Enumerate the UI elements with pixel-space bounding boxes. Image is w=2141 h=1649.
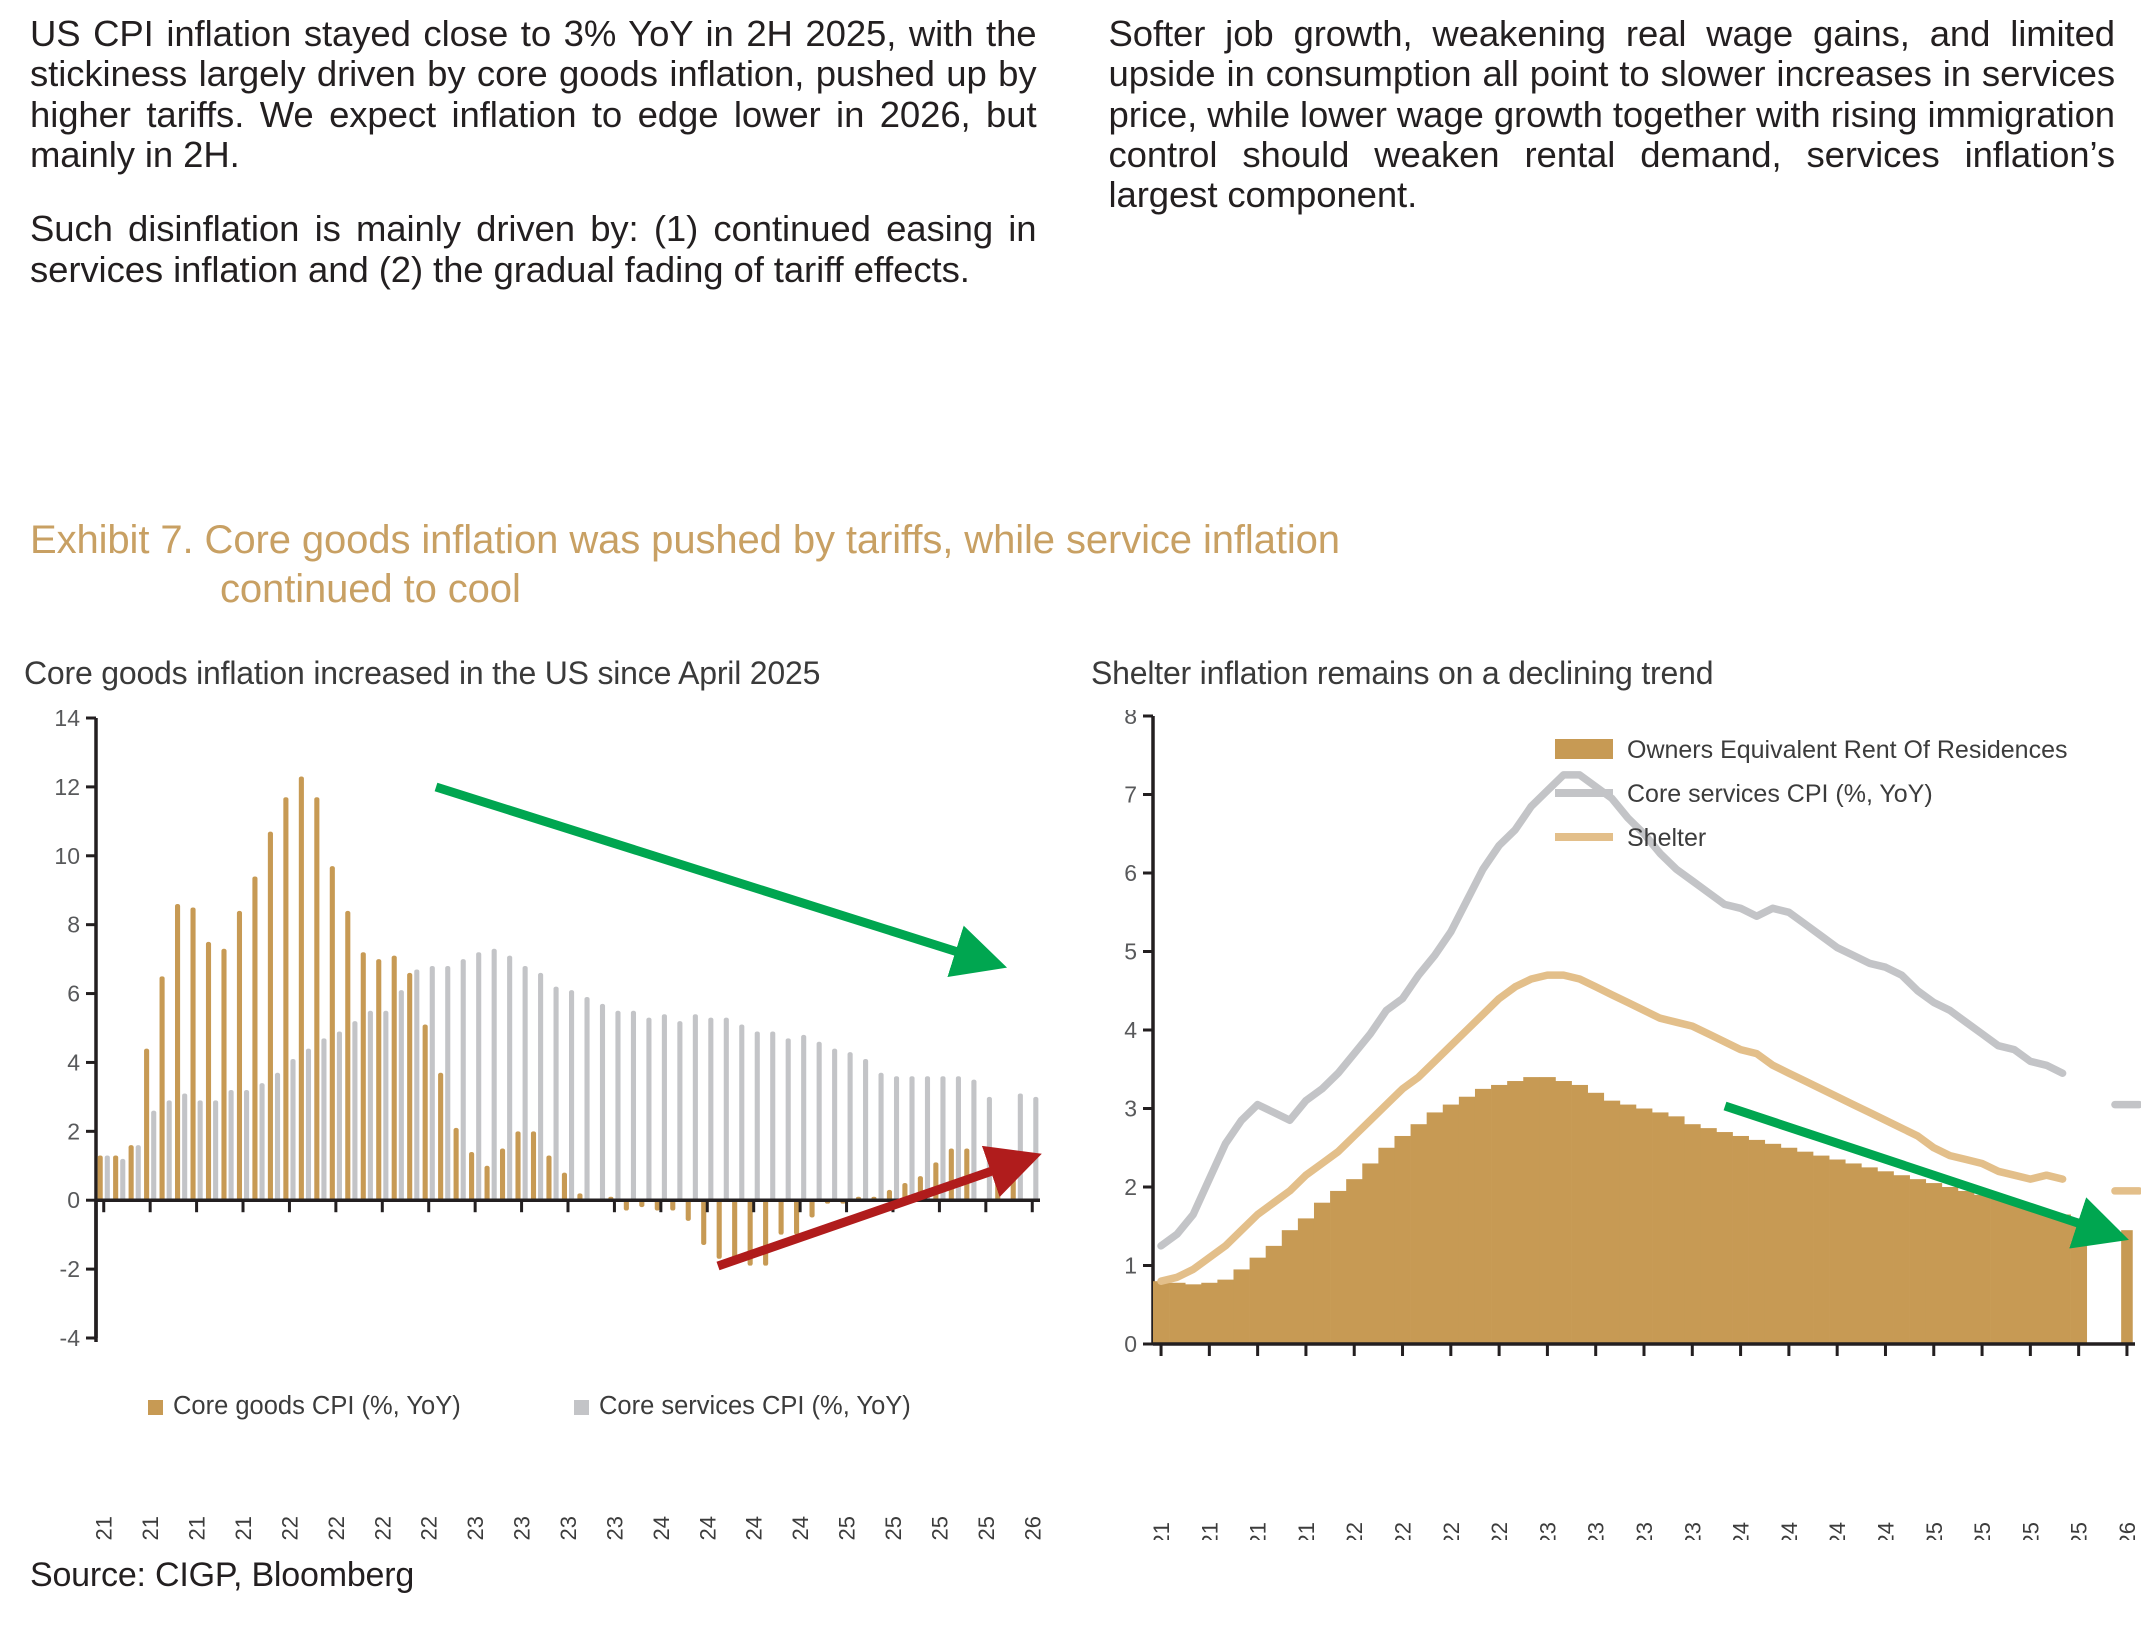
oer-area-bar <box>1539 1077 1555 1344</box>
legend-swatch-core-goods <box>148 1400 163 1415</box>
bar-core-services <box>290 1059 295 1200</box>
bar-core-services <box>136 1145 141 1200</box>
oer-area-bar <box>1700 1128 1716 1344</box>
bar-core-services <box>600 1004 605 1200</box>
bar-core-services <box>213 1100 218 1200</box>
x-tick-label: 7/25 <box>2018 1522 2043 1540</box>
y-tick-label: 1 <box>1124 1253 1137 1279</box>
bar-core-goods <box>779 1200 784 1234</box>
x-tick-label: 7/23 <box>556 1516 581 1540</box>
bar-core-services <box>739 1025 744 1201</box>
bar-core-services <box>724 1018 729 1201</box>
x-tick-label: 4/22 <box>324 1516 349 1540</box>
oer-area-bar <box>1250 1258 1266 1344</box>
oer-area-bar <box>1475 1089 1491 1344</box>
x-tick-label: 1/26 <box>1020 1516 1045 1540</box>
x-tick-label: 4/23 <box>1584 1522 1609 1540</box>
right-chart-panel: Shelter inflation remains on a declining… <box>1085 655 2141 1535</box>
bar-core-services <box>523 966 528 1200</box>
bar-core-goods <box>809 1200 814 1217</box>
x-tick-label: 4/22 <box>1391 1522 1416 1540</box>
oer-area-bar <box>1233 1269 1249 1344</box>
x-tick-label: 10/25 <box>2067 1522 2092 1540</box>
oer-area-bar <box>2071 1218 2087 1344</box>
oer-area-bar <box>2121 1230 2133 1344</box>
bar-core-services <box>352 1021 357 1200</box>
intro-paragraph-2: Such disinflation is mainly driven by: (… <box>30 209 1037 290</box>
y-tick-label: 2 <box>1124 1174 1137 1200</box>
bar-core-services <box>693 1014 698 1200</box>
y-tick-label: 8 <box>1124 710 1137 729</box>
bar-core-goods <box>500 1149 505 1201</box>
y-tick-label: -2 <box>60 1256 80 1282</box>
bar-core-services <box>368 1011 373 1200</box>
oer-area-bar <box>1153 1281 1169 1344</box>
y-tick-label: 12 <box>54 774 80 800</box>
oer-area-bar <box>1185 1284 1201 1344</box>
bar-core-services <box>414 969 419 1200</box>
oer-area-bar <box>2006 1203 2022 1344</box>
charts-row: Core goods inflation increased in the US… <box>0 655 2141 1535</box>
oer-area-bar <box>1926 1183 1942 1344</box>
oer-area-bar <box>1330 1191 1346 1344</box>
bar-core-services <box>229 1090 234 1200</box>
x-tick-label: 1/26 <box>2115 1522 2140 1540</box>
bar-core-goods <box>268 832 273 1201</box>
intro-paragraph-3: Softer job growth, weakening real wage g… <box>1109 14 2116 216</box>
bar-core-services <box>925 1076 930 1200</box>
oer-area-bar <box>1861 1167 1877 1344</box>
x-tick-label: 7/23 <box>1632 1522 1657 1540</box>
x-tick-label: 10/24 <box>1873 1522 1898 1540</box>
y-tick-label: 3 <box>1124 1096 1137 1122</box>
oer-area-bar <box>1765 1144 1781 1344</box>
x-tick-label: 1/22 <box>1342 1522 1367 1540</box>
oer-area-bar <box>1894 1175 1910 1344</box>
legend-label-core-services: Core services CPI (%, YoY) <box>1627 780 1933 808</box>
y-tick-label: 6 <box>1124 860 1137 886</box>
bar-core-services <box>554 987 559 1201</box>
bar-core-services <box>1033 1097 1038 1200</box>
x-tick-label: 7/22 <box>370 1516 395 1540</box>
oer-area-bar <box>1716 1132 1732 1344</box>
bar-core-goods <box>113 1155 118 1200</box>
bar-core-goods <box>237 911 242 1200</box>
source-note: Source: CIGP, Bloomberg <box>30 1556 414 1595</box>
bar-core-services <box>584 997 589 1200</box>
bar-core-services <box>259 1083 264 1200</box>
bar-core-services <box>167 1100 172 1200</box>
bar-core-services <box>120 1159 125 1200</box>
left-chart-plot-area: 14121086420-2-41/214/217/2110/211/224/22… <box>18 710 1058 1540</box>
bar-core-goods <box>485 1166 490 1200</box>
y-tick-label: 0 <box>1124 1331 1137 1357</box>
oer-area-bar <box>1652 1112 1668 1344</box>
bar-core-goods <box>314 797 319 1200</box>
oer-area-bar <box>1990 1199 2006 1344</box>
bar-core-services <box>863 1059 868 1200</box>
bar-core-goods <box>98 1155 103 1200</box>
oer-area-bar <box>1829 1160 1845 1344</box>
bar-core-services <box>430 966 435 1200</box>
bar-core-services <box>538 973 543 1200</box>
x-tick-label: 7/21 <box>1246 1522 1271 1540</box>
oer-area-bar <box>1523 1077 1539 1344</box>
oer-area-bar <box>2022 1207 2038 1344</box>
bar-core-goods <box>949 1149 954 1201</box>
bar-core-goods <box>407 973 412 1200</box>
oer-area-bar <box>1298 1218 1314 1344</box>
intro-paragraph-1: US CPI inflation stayed close to 3% YoY … <box>30 14 1037 175</box>
oer-area-bar <box>1588 1093 1604 1344</box>
oer-area-bar <box>1636 1109 1652 1345</box>
legend-label-oer: Owners Equivalent Rent Of Residences <box>1627 736 2068 764</box>
x-tick-label: 10/23 <box>602 1516 627 1540</box>
x-tick-label: 1/25 <box>1922 1522 1947 1540</box>
x-tick-label: 1/22 <box>277 1516 302 1540</box>
bar-core-services <box>461 959 466 1200</box>
x-tick-label: 4/21 <box>1197 1522 1222 1540</box>
oer-area-bar <box>1733 1136 1749 1344</box>
bar-core-goods <box>794 1200 799 1234</box>
left-chart-panel: Core goods inflation increased in the US… <box>18 655 1058 1535</box>
left-chart-svg: 14121086420-2-41/214/217/2110/211/224/22… <box>18 710 1058 1540</box>
bar-core-services <box>507 956 512 1201</box>
bar-core-goods <box>995 1155 1000 1200</box>
y-tick-label: 0 <box>67 1187 80 1213</box>
x-tick-label: 4/24 <box>1777 1522 1802 1540</box>
oer-area-bar <box>1813 1156 1829 1344</box>
y-tick-label: 4 <box>67 1049 80 1075</box>
bar-core-services <box>801 1035 806 1200</box>
oer-area-bar <box>1507 1081 1523 1344</box>
oer-area-bar <box>1684 1124 1700 1344</box>
oer-area-bar <box>1555 1081 1571 1344</box>
oer-area-bar <box>1217 1280 1233 1344</box>
bar-core-services <box>383 1011 388 1200</box>
bar-core-goods <box>252 876 257 1200</box>
oer-area-bar <box>1443 1105 1459 1344</box>
right-xaxis-group: 1/214/217/2110/211/224/227/2210/221/234/… <box>1149 1344 2140 1540</box>
oer-area-bar <box>1169 1283 1185 1344</box>
right-axis-group: 876543210 <box>1124 710 1153 1357</box>
oer-area-bar <box>2055 1214 2071 1344</box>
oer-area-bar <box>1572 1085 1588 1344</box>
legend-swatch-oer <box>1555 739 1613 759</box>
oer-area-bar <box>1749 1140 1765 1344</box>
oer-area-bar <box>1362 1163 1378 1344</box>
bar-core-services <box>817 1042 822 1200</box>
oer-area-bar <box>1314 1203 1330 1344</box>
x-tick-label: 4/23 <box>510 1516 535 1540</box>
left-legend-group: Core goods CPI (%, YoY)Core services CPI… <box>148 1392 911 1420</box>
oer-area-bar <box>1201 1283 1217 1344</box>
bar-core-goods <box>686 1200 691 1221</box>
x-tick-label: 10/22 <box>417 1516 442 1540</box>
x-tick-label: 7/25 <box>927 1516 952 1540</box>
legend-label-core-services: Core services CPI (%, YoY) <box>599 1392 911 1420</box>
bar-core-services <box>848 1052 853 1200</box>
bar-core-services <box>987 1097 992 1200</box>
x-tick-label: 7/22 <box>1439 1522 1464 1540</box>
bar-core-services <box>708 1018 713 1201</box>
right-chart-plot-area: 8765432101/214/217/2110/211/224/227/2210… <box>1085 710 2141 1540</box>
bar-core-goods <box>763 1200 768 1265</box>
x-tick-label: 7/24 <box>742 1516 767 1540</box>
oer-area-bar <box>1394 1136 1410 1344</box>
bar-core-goods <box>144 1049 149 1201</box>
oer-area-bar <box>1974 1195 1990 1344</box>
x-tick-label: 1/24 <box>1729 1522 1754 1540</box>
bar-core-goods <box>129 1145 134 1200</box>
bar-core-services <box>476 952 481 1200</box>
bar-core-services <box>940 1076 945 1200</box>
left-bars-group <box>98 777 1039 1266</box>
bar-core-services <box>662 1014 667 1200</box>
bar-core-services <box>399 990 404 1200</box>
oer-area-bar <box>1620 1105 1636 1344</box>
x-tick-label: 10/24 <box>788 1516 813 1540</box>
x-tick-label: 1/21 <box>92 1516 117 1540</box>
oer-area-bar <box>1346 1179 1362 1344</box>
bar-core-services <box>198 1100 203 1200</box>
bar-core-goods <box>717 1200 722 1259</box>
bar-core-goods <box>190 907 195 1200</box>
bar-core-goods <box>361 952 366 1200</box>
bar-core-goods <box>423 1025 428 1201</box>
bar-core-services <box>879 1073 884 1200</box>
y-tick-label: 5 <box>1124 939 1137 965</box>
oer-area-bar <box>2038 1211 2054 1344</box>
bar-core-services <box>151 1111 156 1201</box>
bar-core-goods <box>299 777 304 1201</box>
right-chart-svg: 8765432101/214/217/2110/211/224/227/2210… <box>1085 710 2141 1540</box>
right-legend-group: Owners Equivalent Rent Of ResidencesCore… <box>1555 736 2068 852</box>
bar-core-goods <box>175 904 180 1200</box>
bar-core-goods <box>221 949 226 1200</box>
x-tick-label: 10/23 <box>1680 1522 1705 1540</box>
bar-core-services <box>337 1031 342 1200</box>
y-tick-label: 8 <box>67 912 80 938</box>
legend-label-shelter: Shelter <box>1627 824 1706 852</box>
oer-area-bar <box>1427 1112 1443 1344</box>
bar-core-services <box>321 1038 326 1200</box>
bar-core-services <box>832 1049 837 1201</box>
bar-core-services <box>182 1093 187 1200</box>
x-tick-label: 1/23 <box>1535 1522 1560 1540</box>
x-tick-label: 10/22 <box>1487 1522 1512 1540</box>
bar-core-services <box>909 1076 914 1200</box>
intro-right-column: Softer job growth, weakening real wage g… <box>1109 14 2116 290</box>
oer-area-bar <box>1668 1116 1684 1344</box>
oer-area-bar <box>1942 1187 1958 1344</box>
exhibit-title-line2: continued to cool <box>30 565 2010 614</box>
x-tick-label: 10/21 <box>231 1516 256 1540</box>
declining-services-arrow <box>436 787 983 960</box>
intro-left-column: US CPI inflation stayed close to 3% YoY … <box>30 14 1037 290</box>
bar-core-goods <box>469 1152 474 1200</box>
x-tick-label: 4/25 <box>1970 1522 1995 1540</box>
y-tick-label: 7 <box>1124 782 1137 808</box>
x-tick-label: 10/25 <box>974 1516 999 1540</box>
bar-core-services <box>445 966 450 1200</box>
oer-area-group <box>1153 1077 2133 1344</box>
bar-core-goods <box>392 956 397 1201</box>
oer-area-bar <box>1282 1230 1298 1344</box>
oer-area-bar <box>1411 1124 1427 1344</box>
x-tick-label: 4/25 <box>881 1516 906 1540</box>
legend-swatch-core-services <box>574 1400 589 1415</box>
y-tick-label: -4 <box>60 1325 81 1351</box>
bar-core-goods <box>283 797 288 1200</box>
exhibit-title-line1: Exhibit 7. Core goods inflation was push… <box>30 518 1340 562</box>
bar-core-services <box>770 1031 775 1200</box>
y-tick-label: 14 <box>54 710 80 731</box>
oer-area-bar <box>1266 1246 1282 1344</box>
y-tick-label: 10 <box>54 843 80 869</box>
bar-core-services <box>244 1090 249 1200</box>
bar-core-goods <box>376 959 381 1200</box>
bar-core-services <box>631 1011 636 1200</box>
x-tick-label: 4/24 <box>695 1516 720 1540</box>
bar-core-services <box>275 1073 280 1200</box>
oer-area-bar <box>1604 1101 1620 1344</box>
bar-core-goods <box>562 1173 567 1201</box>
bar-core-goods <box>732 1200 737 1262</box>
bar-core-goods <box>438 1073 443 1200</box>
oer-area-bar <box>1378 1148 1394 1344</box>
right-chart-subtitle: Shelter inflation remains on a declining… <box>1091 655 2141 692</box>
exhibit-title: Exhibit 7. Core goods inflation was push… <box>30 516 2010 614</box>
bar-core-goods <box>546 1155 551 1200</box>
x-tick-label: 1/25 <box>835 1516 860 1540</box>
bar-core-services <box>569 990 574 1200</box>
bar-core-services <box>755 1031 760 1200</box>
bar-core-goods <box>330 866 335 1200</box>
x-tick-label: 7/24 <box>1825 1522 1850 1540</box>
bar-core-goods <box>206 942 211 1200</box>
x-tick-label: 7/21 <box>185 1516 210 1540</box>
bar-core-goods <box>515 1131 520 1200</box>
bar-core-goods <box>454 1128 459 1200</box>
x-tick-label: 1/24 <box>649 1516 674 1540</box>
x-tick-label: 1/23 <box>463 1516 488 1540</box>
oer-area-bar <box>1958 1191 1974 1344</box>
bar-core-services <box>492 949 497 1200</box>
x-tick-label: 4/21 <box>138 1516 163 1540</box>
oer-area-bar <box>1877 1171 1893 1344</box>
bar-core-goods <box>345 911 350 1200</box>
y-tick-label: 6 <box>67 981 80 1007</box>
bar-core-goods <box>701 1200 706 1245</box>
bar-core-services <box>615 1011 620 1200</box>
bar-core-services <box>894 1076 899 1200</box>
oer-area-bar <box>1845 1163 1861 1344</box>
bar-core-services <box>1018 1093 1023 1200</box>
x-tick-label: 10/21 <box>1294 1522 1319 1540</box>
intro-text-block: US CPI inflation stayed close to 3% YoY … <box>0 0 2141 290</box>
oer-area-bar <box>1491 1085 1507 1344</box>
oer-area-bar <box>1781 1148 1797 1344</box>
bar-core-goods <box>531 1131 536 1200</box>
y-tick-label: 2 <box>67 1118 80 1144</box>
x-tick-label: 1/21 <box>1149 1522 1174 1540</box>
left-xaxis-group: 1/214/217/2110/211/224/227/2210/221/234/… <box>92 1200 1046 1540</box>
y-tick-label: 4 <box>1124 1017 1137 1043</box>
left-chart-subtitle: Core goods inflation increased in the US… <box>24 655 1058 692</box>
oer-area-bar <box>1459 1097 1475 1344</box>
bar-core-services <box>306 1049 311 1201</box>
bar-core-services <box>677 1021 682 1200</box>
oer-area-bar <box>1797 1152 1813 1344</box>
bar-core-services <box>105 1155 110 1200</box>
legend-label-core-goods: Core goods CPI (%, YoY) <box>173 1392 461 1420</box>
bar-core-services <box>646 1018 651 1201</box>
oer-area-bar <box>1910 1179 1926 1344</box>
bar-core-services <box>786 1038 791 1200</box>
left-axis-group: 14121086420-2-4 <box>54 710 96 1351</box>
bar-core-goods <box>160 976 165 1200</box>
